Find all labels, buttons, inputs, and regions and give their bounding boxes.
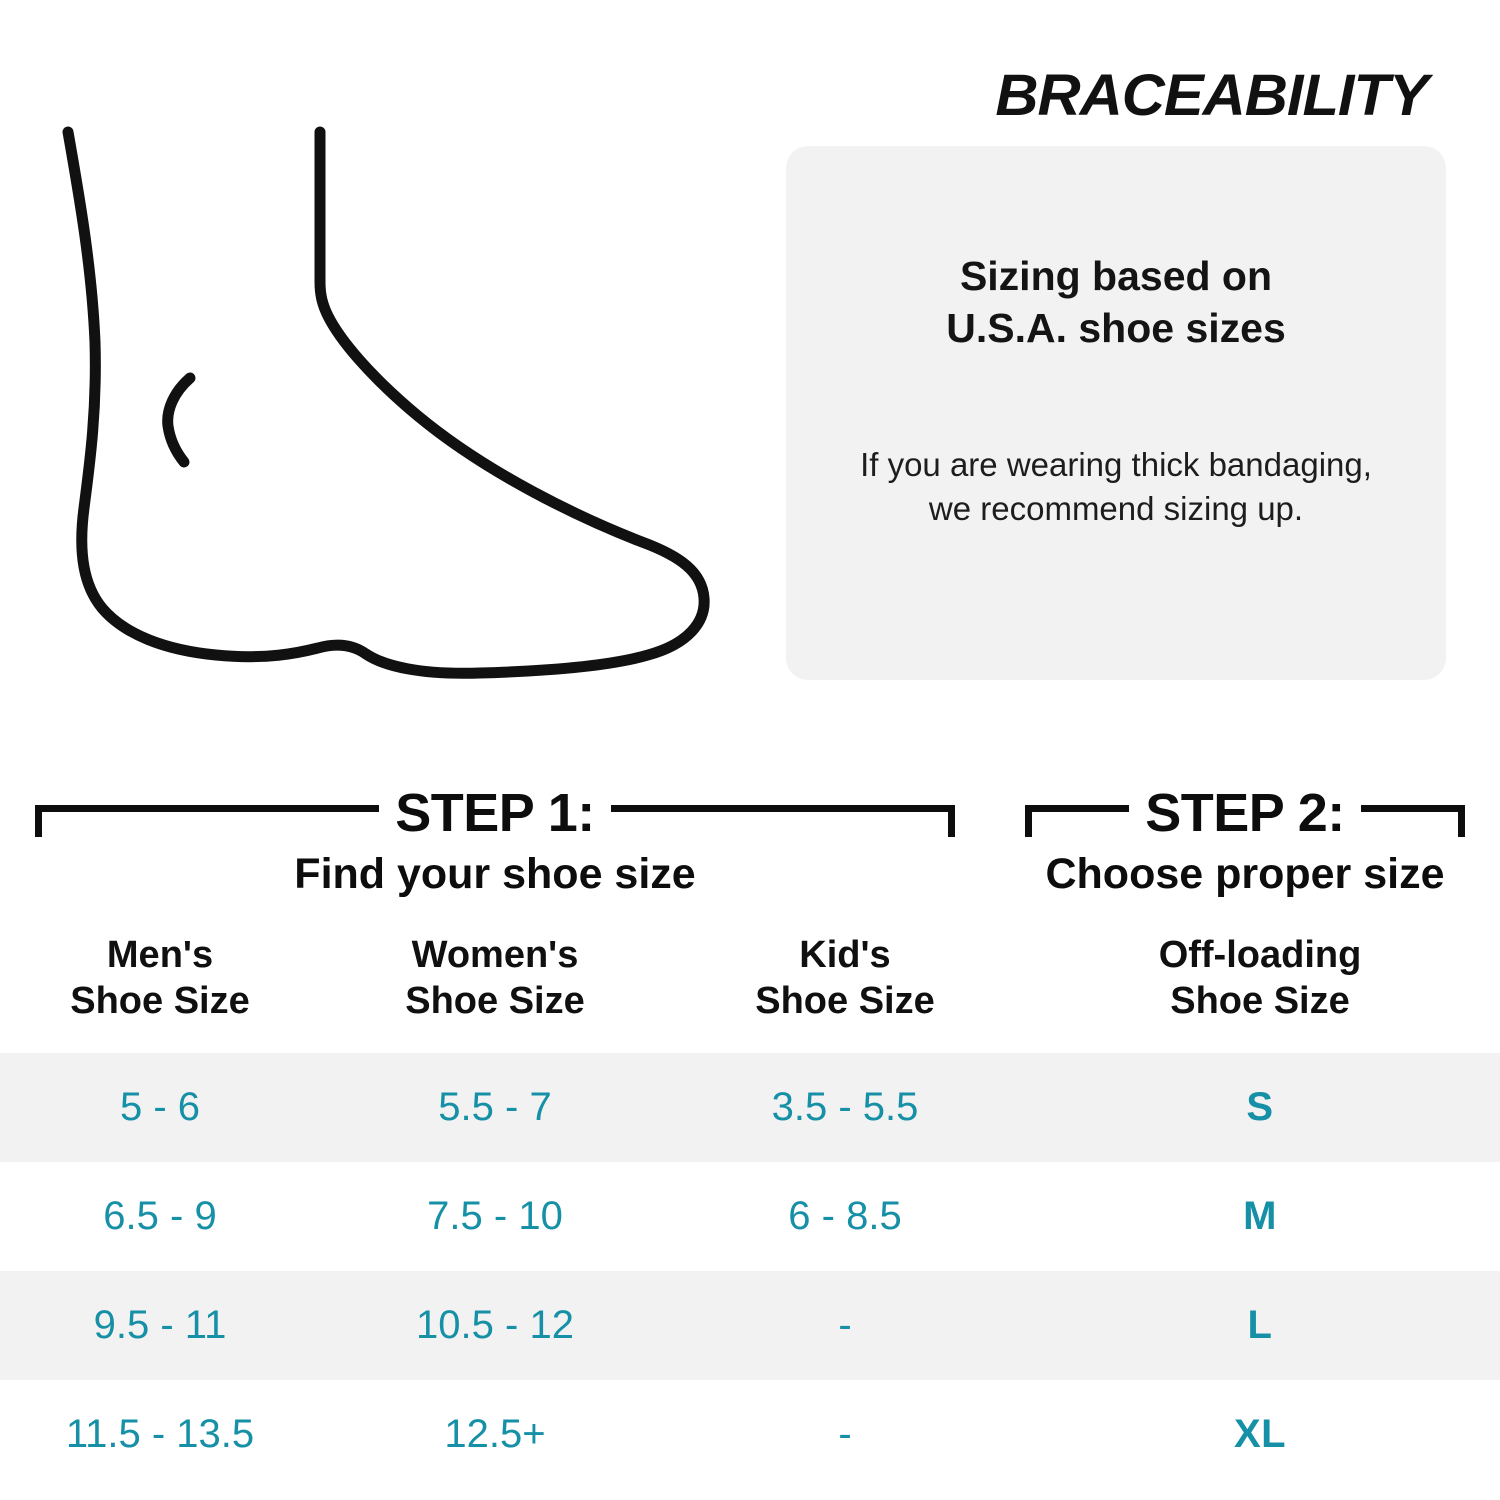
sizing-chart-page: BRACEABILITY Sizing based on U.S.A. shoe… xyxy=(0,0,1500,1500)
table-row: 5 - 6 5.5 - 7 3.5 - 5.5 S xyxy=(0,1053,1500,1162)
step-2-bracket-left xyxy=(1025,805,1129,812)
cell-kids-size: - xyxy=(670,1303,1020,1348)
step-2-subtitle: Choose proper size xyxy=(1025,850,1465,898)
cell-offloading-size: L xyxy=(1020,1303,1500,1348)
cell-mens-size: 5 - 6 xyxy=(0,1085,320,1130)
info-panel-title-line-2: U.S.A. shoe sizes xyxy=(946,302,1286,354)
cell-womens-size: 7.5 - 10 xyxy=(320,1194,670,1239)
cell-womens-size: 12.5+ xyxy=(320,1412,670,1457)
table-row: 11.5 - 13.5 12.5+ - XL xyxy=(0,1380,1500,1489)
column-header-womens-shoe-size: Women's Shoe Size xyxy=(320,933,670,1024)
step-1-label: STEP 1: xyxy=(379,786,611,840)
cell-womens-size: 10.5 - 12 xyxy=(320,1303,670,1348)
cell-mens-size: 6.5 - 9 xyxy=(0,1194,320,1239)
braceability-logo: BRACEABILITY xyxy=(996,62,1428,129)
step-1-bracket-left xyxy=(35,805,379,812)
info-panel-title: Sizing based on U.S.A. shoe sizes xyxy=(946,250,1286,355)
cell-offloading-size: S xyxy=(1020,1085,1500,1130)
size-table: Men's Shoe Size Women's Shoe Size Kid's … xyxy=(0,925,1500,1489)
cell-kids-size: 6 - 8.5 xyxy=(670,1194,1020,1239)
table-row: 6.5 - 9 7.5 - 10 6 - 8.5 M xyxy=(0,1162,1500,1271)
column-header-offloading-shoe-size: Off-loading Shoe Size xyxy=(1020,933,1500,1024)
step-2-bracket: STEP 2: xyxy=(1025,780,1465,846)
info-panel-title-line-1: Sizing based on xyxy=(946,250,1286,302)
cell-mens-size: 9.5 - 11 xyxy=(0,1303,320,1348)
step-2-bracket-right xyxy=(1361,805,1465,812)
cell-offloading-size: M xyxy=(1020,1194,1500,1239)
step-1-bracket: STEP 1: xyxy=(35,780,955,846)
cell-womens-size: 5.5 - 7 xyxy=(320,1085,670,1130)
steps-row: STEP 1: Find your shoe size STEP 2: Choo… xyxy=(0,780,1500,910)
column-header-mens-shoe-size: Men's Shoe Size xyxy=(0,933,320,1024)
size-table-header-row: Men's Shoe Size Women's Shoe Size Kid's … xyxy=(0,925,1500,1053)
cell-mens-size: 11.5 - 13.5 xyxy=(0,1412,320,1457)
step-2: STEP 2: Choose proper size xyxy=(1025,780,1465,910)
cell-offloading-size: XL xyxy=(1020,1412,1500,1457)
foot-side-profile-icon xyxy=(40,110,750,690)
cell-kids-size: - xyxy=(670,1412,1020,1457)
info-panel-note: If you are wearing thick bandaging, we r… xyxy=(851,443,1381,532)
step-1: STEP 1: Find your shoe size xyxy=(35,780,955,910)
table-row: 9.5 - 11 10.5 - 12 - L xyxy=(0,1271,1500,1380)
step-2-label: STEP 2: xyxy=(1129,786,1361,840)
column-header-kids-shoe-size: Kid's Shoe Size xyxy=(670,933,1020,1024)
step-1-subtitle: Find your shoe size xyxy=(35,850,955,898)
cell-kids-size: 3.5 - 5.5 xyxy=(670,1085,1020,1130)
sizing-info-panel: Sizing based on U.S.A. shoe sizes If you… xyxy=(786,146,1446,680)
step-1-bracket-right xyxy=(611,805,955,812)
